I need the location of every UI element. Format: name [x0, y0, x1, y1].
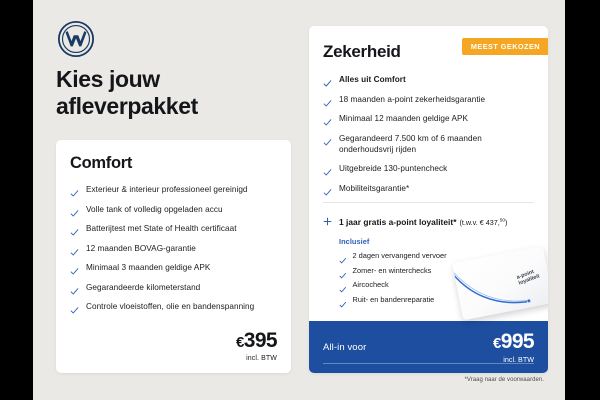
inclusief-item-text: Ruit- en bandenreparatie [353, 295, 435, 304]
check-icon [70, 302, 79, 311]
zekerheid-feature-list: Alles uit Comfort 18 maanden a-point zek… [323, 74, 534, 194]
check-icon [70, 283, 79, 292]
zekerheid-price-footer: All-in voor €995 incl. BTW [309, 321, 548, 373]
check-icon [70, 205, 79, 214]
list-item: Alles uit Comfort [323, 74, 534, 85]
feature-text: Controle vloeistoffen, olie en bandenspa… [86, 301, 254, 312]
feature-text: Mobiliteitsgarantie* [339, 183, 409, 194]
letterbox-bar-right [565, 0, 600, 400]
list-item: Mobiliteitsgarantie* [323, 183, 534, 194]
list-item: Exterieur & interieur professioneel gere… [70, 184, 277, 195]
check-icon [339, 281, 347, 289]
list-item: Minimaal 3 maanden geldige APK [70, 262, 277, 273]
list-item: Uitgebreide 130-puntencheck [323, 163, 534, 174]
check-icon [70, 224, 79, 233]
list-item: Controle vloeistoffen, olie en bandenspa… [70, 301, 277, 312]
feature-text: Minimaal 3 maanden geldige APK [86, 262, 210, 273]
allin-label: All-in voor [323, 342, 366, 353]
feature-text: Uitgebreide 130-puntencheck [339, 163, 447, 174]
list-item: Minimaal 12 maanden geldige APK [323, 113, 534, 124]
check-icon [323, 164, 332, 173]
check-icon [339, 266, 347, 274]
promo-canvas: Kies jouw afleverpakket Comfort Exterieu… [33, 0, 565, 400]
list-item: 18 maanden a-point zekerheidsgarantie [323, 94, 534, 105]
feature-text: 18 maanden a-point zekerheidsgarantie [339, 94, 485, 105]
check-icon [70, 244, 79, 253]
plus-icon [323, 213, 332, 222]
divider [323, 202, 534, 203]
feature-text: Minimaal 12 maanden geldige APK [339, 113, 468, 124]
loyalty-title: 1 jaar gratis a-point loyaliteit* [339, 217, 456, 227]
feature-text: Alles uit Comfort [339, 74, 406, 85]
volkswagen-logo-icon [57, 20, 95, 58]
comfort-price-note: incl. BTW [236, 355, 277, 362]
comfort-price-block: €395 incl. BTW [236, 330, 277, 362]
list-item: Batterijtest met State of Health certifi… [70, 223, 277, 234]
feature-text: Batterijtest met State of Health certifi… [86, 223, 237, 234]
letterbox-bar-left [0, 0, 33, 400]
zekerheid-price-block: €995 incl. BTW [493, 331, 534, 364]
zekerheid-package-card[interactable]: MEEST GEKOZEN Zekerheid Alles uit Comfor… [309, 26, 548, 373]
feature-text: Volle tank of volledig opgeladen accu [86, 204, 223, 215]
zekerheid-price: €995 [493, 331, 534, 354]
list-item: 12 maanden BOVAG-garantie [70, 243, 277, 254]
check-icon [323, 114, 332, 123]
inclusief-item-text: Aircocheck [353, 280, 389, 289]
feature-text: Exterieur & interieur professioneel gere… [86, 184, 248, 195]
feature-text: Gegarandeerd 7.500 km of 6 maanden onder… [339, 133, 534, 155]
check-icon [323, 134, 332, 143]
comfort-price: €395 [236, 330, 277, 354]
comfort-title: Comfort [70, 154, 277, 173]
disclaimer-text: *Vraag naar de voorwaarden. [309, 377, 548, 383]
price-value: 395 [244, 329, 277, 352]
screenshot-stage: Kies jouw afleverpakket Comfort Exterieu… [0, 0, 600, 400]
feature-text: 12 maanden BOVAG-garantie [86, 243, 196, 254]
list-item: Volle tank of volledig opgeladen accu [70, 204, 277, 215]
check-icon [70, 263, 79, 272]
inclusief-item-text: Zomer- en winterchecks [353, 266, 432, 275]
check-icon [339, 252, 347, 260]
price-value: 995 [501, 330, 534, 353]
status-badge: MEEST GEKOZEN [462, 38, 548, 55]
feature-text: Gegarandeerde kilometerstand [86, 282, 200, 293]
comfort-package-card[interactable]: Comfort Exterieur & interieur profession… [56, 140, 291, 373]
currency-symbol: € [236, 334, 244, 351]
check-icon [70, 185, 79, 194]
list-item: Gegarandeerde kilometerstand [70, 282, 277, 293]
currency-symbol: € [493, 335, 501, 352]
divider [323, 363, 534, 364]
loyalty-row: 1 jaar gratis a-point loyaliteit*(t.w.v.… [323, 212, 534, 230]
inclusief-item-text: 2 dagen vervangend vervoer [353, 251, 447, 260]
comfort-feature-list: Exterieur & interieur professioneel gere… [70, 184, 277, 312]
check-icon [323, 95, 332, 104]
inclusief-label: Inclusief [339, 237, 534, 246]
loyalty-value: (t.w.v. € 437,50) [459, 218, 507, 227]
check-icon [339, 295, 347, 303]
check-icon [323, 75, 332, 84]
page-title: Kies jouw afleverpakket [56, 66, 286, 120]
check-icon [323, 184, 332, 193]
list-item: Gegarandeerd 7.500 km of 6 maanden onder… [323, 133, 534, 155]
